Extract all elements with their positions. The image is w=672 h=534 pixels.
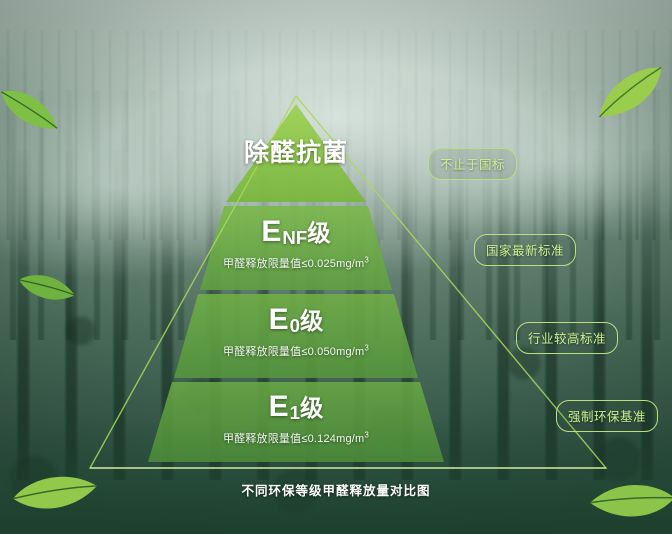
callout-apex: 不止于国标 <box>428 148 517 180</box>
callout-e1: 强制环保基准 <box>556 400 658 432</box>
infographic-canvas: 除醛抗菌 ENF级 甲醛释放限量值≤0.025mg/m3 E0级 甲醛释放限量值… <box>0 0 672 534</box>
tier-desc-e1: 甲醛释放限量值≤0.124mg/m3 <box>106 430 486 446</box>
tier-title-enf-letter: E <box>261 215 282 248</box>
tier-desc-enf-sup: 3 <box>364 255 369 264</box>
tier-label-apex: 除醛抗菌 <box>176 140 416 168</box>
tier-desc-enf-text: 甲醛释放限量值≤0.025mg/m <box>223 258 364 270</box>
tier-desc-e1-text: 甲醛释放限量值≤0.124mg/m <box>223 433 364 445</box>
chart-caption: 不同环保等级甲醛释放量对比图 <box>0 480 672 499</box>
tier-title-apex-text: 除醛抗菌 <box>244 139 348 167</box>
tier-label-enf: ENF级 甲醛释放限量值≤0.025mg/m3 <box>146 215 446 271</box>
callout-e0: 行业较高标准 <box>516 322 618 354</box>
tier-title-e0-unit: 级 <box>300 308 323 334</box>
tier-label-e1: E1级 甲醛释放限量值≤0.124mg/m3 <box>106 390 486 446</box>
tier-title-e0-letter: E <box>269 303 290 336</box>
tier-label-e0: E0级 甲醛释放限量值≤0.050mg/m3 <box>126 303 466 359</box>
tier-title-e1-subscript: 1 <box>290 402 300 423</box>
tier-desc-e1-sup: 3 <box>364 430 369 439</box>
tier-desc-e0: 甲醛释放限量值≤0.050mg/m3 <box>126 343 466 359</box>
tier-title-enf-subscript: NF <box>282 227 307 248</box>
tier-title-enf: ENF级 <box>146 215 446 248</box>
tier-title-e1: E1级 <box>106 390 486 423</box>
callout-enf: 国家最新标准 <box>474 234 576 266</box>
tier-desc-enf: 甲醛释放限量值≤0.025mg/m3 <box>146 255 446 271</box>
tier-title-e0-subscript: 0 <box>290 315 300 336</box>
tier-desc-e0-text: 甲醛释放限量值≤0.050mg/m <box>223 346 364 358</box>
tier-title-e1-letter: E <box>269 390 290 423</box>
tier-desc-e0-sup: 3 <box>364 343 369 352</box>
tier-title-e0: E0级 <box>126 303 466 336</box>
tier-title-enf-unit: 级 <box>307 220 330 246</box>
tier-title-apex: 除醛抗菌 <box>176 140 416 168</box>
tier-title-e1-unit: 级 <box>300 395 323 421</box>
